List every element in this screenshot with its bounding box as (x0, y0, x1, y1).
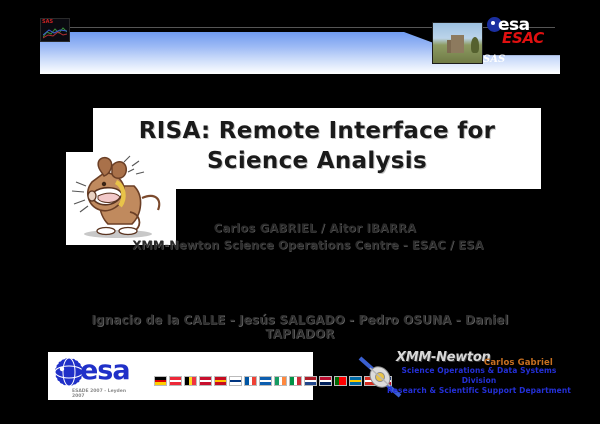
flag-stripe (155, 382, 166, 385)
esac-wordmark: ESAC (502, 29, 544, 47)
flag-austria (169, 376, 182, 386)
xmm-newton-footer: XMM-Newton Science Operations & Data Sys… (356, 350, 600, 400)
spectrum-curve-icon (43, 26, 67, 39)
secondary-authors: Ignacio de la CALLE - Jesús SALGADO - Pe… (55, 313, 545, 341)
sas-label: SAS (483, 54, 505, 65)
flag-belgium (184, 376, 197, 386)
flag-stripe (230, 382, 241, 385)
esac-castle-photo (432, 22, 483, 64)
castle-keep-icon (451, 35, 464, 53)
presentation-title-slide: SAS esa ESAC SAS RISA: Remote Interface … (0, 0, 600, 424)
flag-stripe (252, 377, 256, 385)
esa-footer-caption: ESADE 2007 - Leyden 2007 (72, 389, 126, 399)
xmm-person-name: Carlos Gabriel (484, 358, 553, 368)
flag-stripe (320, 382, 331, 385)
slide-header: SAS esa ESAC SAS (0, 0, 600, 78)
flag-france (244, 376, 257, 386)
flag-stripe (192, 377, 196, 385)
esa-caption-line-2: 2007 (72, 394, 126, 399)
spectrum-plot-thumbnail-icon: SAS (40, 18, 70, 42)
flag-stripe (297, 377, 301, 385)
flag-stripe (305, 382, 316, 385)
flag-stripe (170, 382, 181, 385)
esa-esac-logo: esa ESAC (487, 14, 551, 48)
xmm-division-subtitle: Science Operations & Data Systems Divisi… (384, 366, 574, 396)
flag-stripe (215, 382, 226, 385)
xmm-subtitle-line-2: Research & Scientific Support Department (384, 386, 574, 396)
flag-greece (259, 376, 272, 386)
flag-ireland (274, 376, 287, 386)
author-affiliation: XMM-Newton Science Operations Centre - E… (118, 238, 498, 252)
flag-finland (229, 376, 242, 386)
primary-authors: Carlos GABRIEL / Aitor IBARRA (150, 221, 480, 235)
flag-norway (319, 376, 332, 386)
flag-portugal (334, 376, 347, 386)
esa-footer-logo: esa ESADE 2007 - Leyden 2007 (48, 352, 313, 400)
title-line-1: RISA: Remote Interface for (93, 116, 541, 146)
flag-stripe (260, 382, 271, 385)
esa-footer-wordmark: esa (80, 355, 130, 386)
flag-netherlands (304, 376, 317, 386)
flag-italy (289, 376, 302, 386)
flag-denmark (199, 376, 212, 386)
thumbnail-sas-label: SAS (42, 19, 53, 25)
xmm-mission-title: XMM-Newton (396, 350, 490, 365)
flag-spain (214, 376, 227, 386)
flag-stripe (282, 377, 286, 385)
xmm-subtitle-line-1: Science Operations & Data Systems Divisi… (384, 366, 574, 386)
flag-germany (154, 376, 167, 386)
castle-tree-icon (471, 37, 479, 53)
flag-stripe (342, 377, 346, 385)
flag-stripe (200, 382, 211, 385)
